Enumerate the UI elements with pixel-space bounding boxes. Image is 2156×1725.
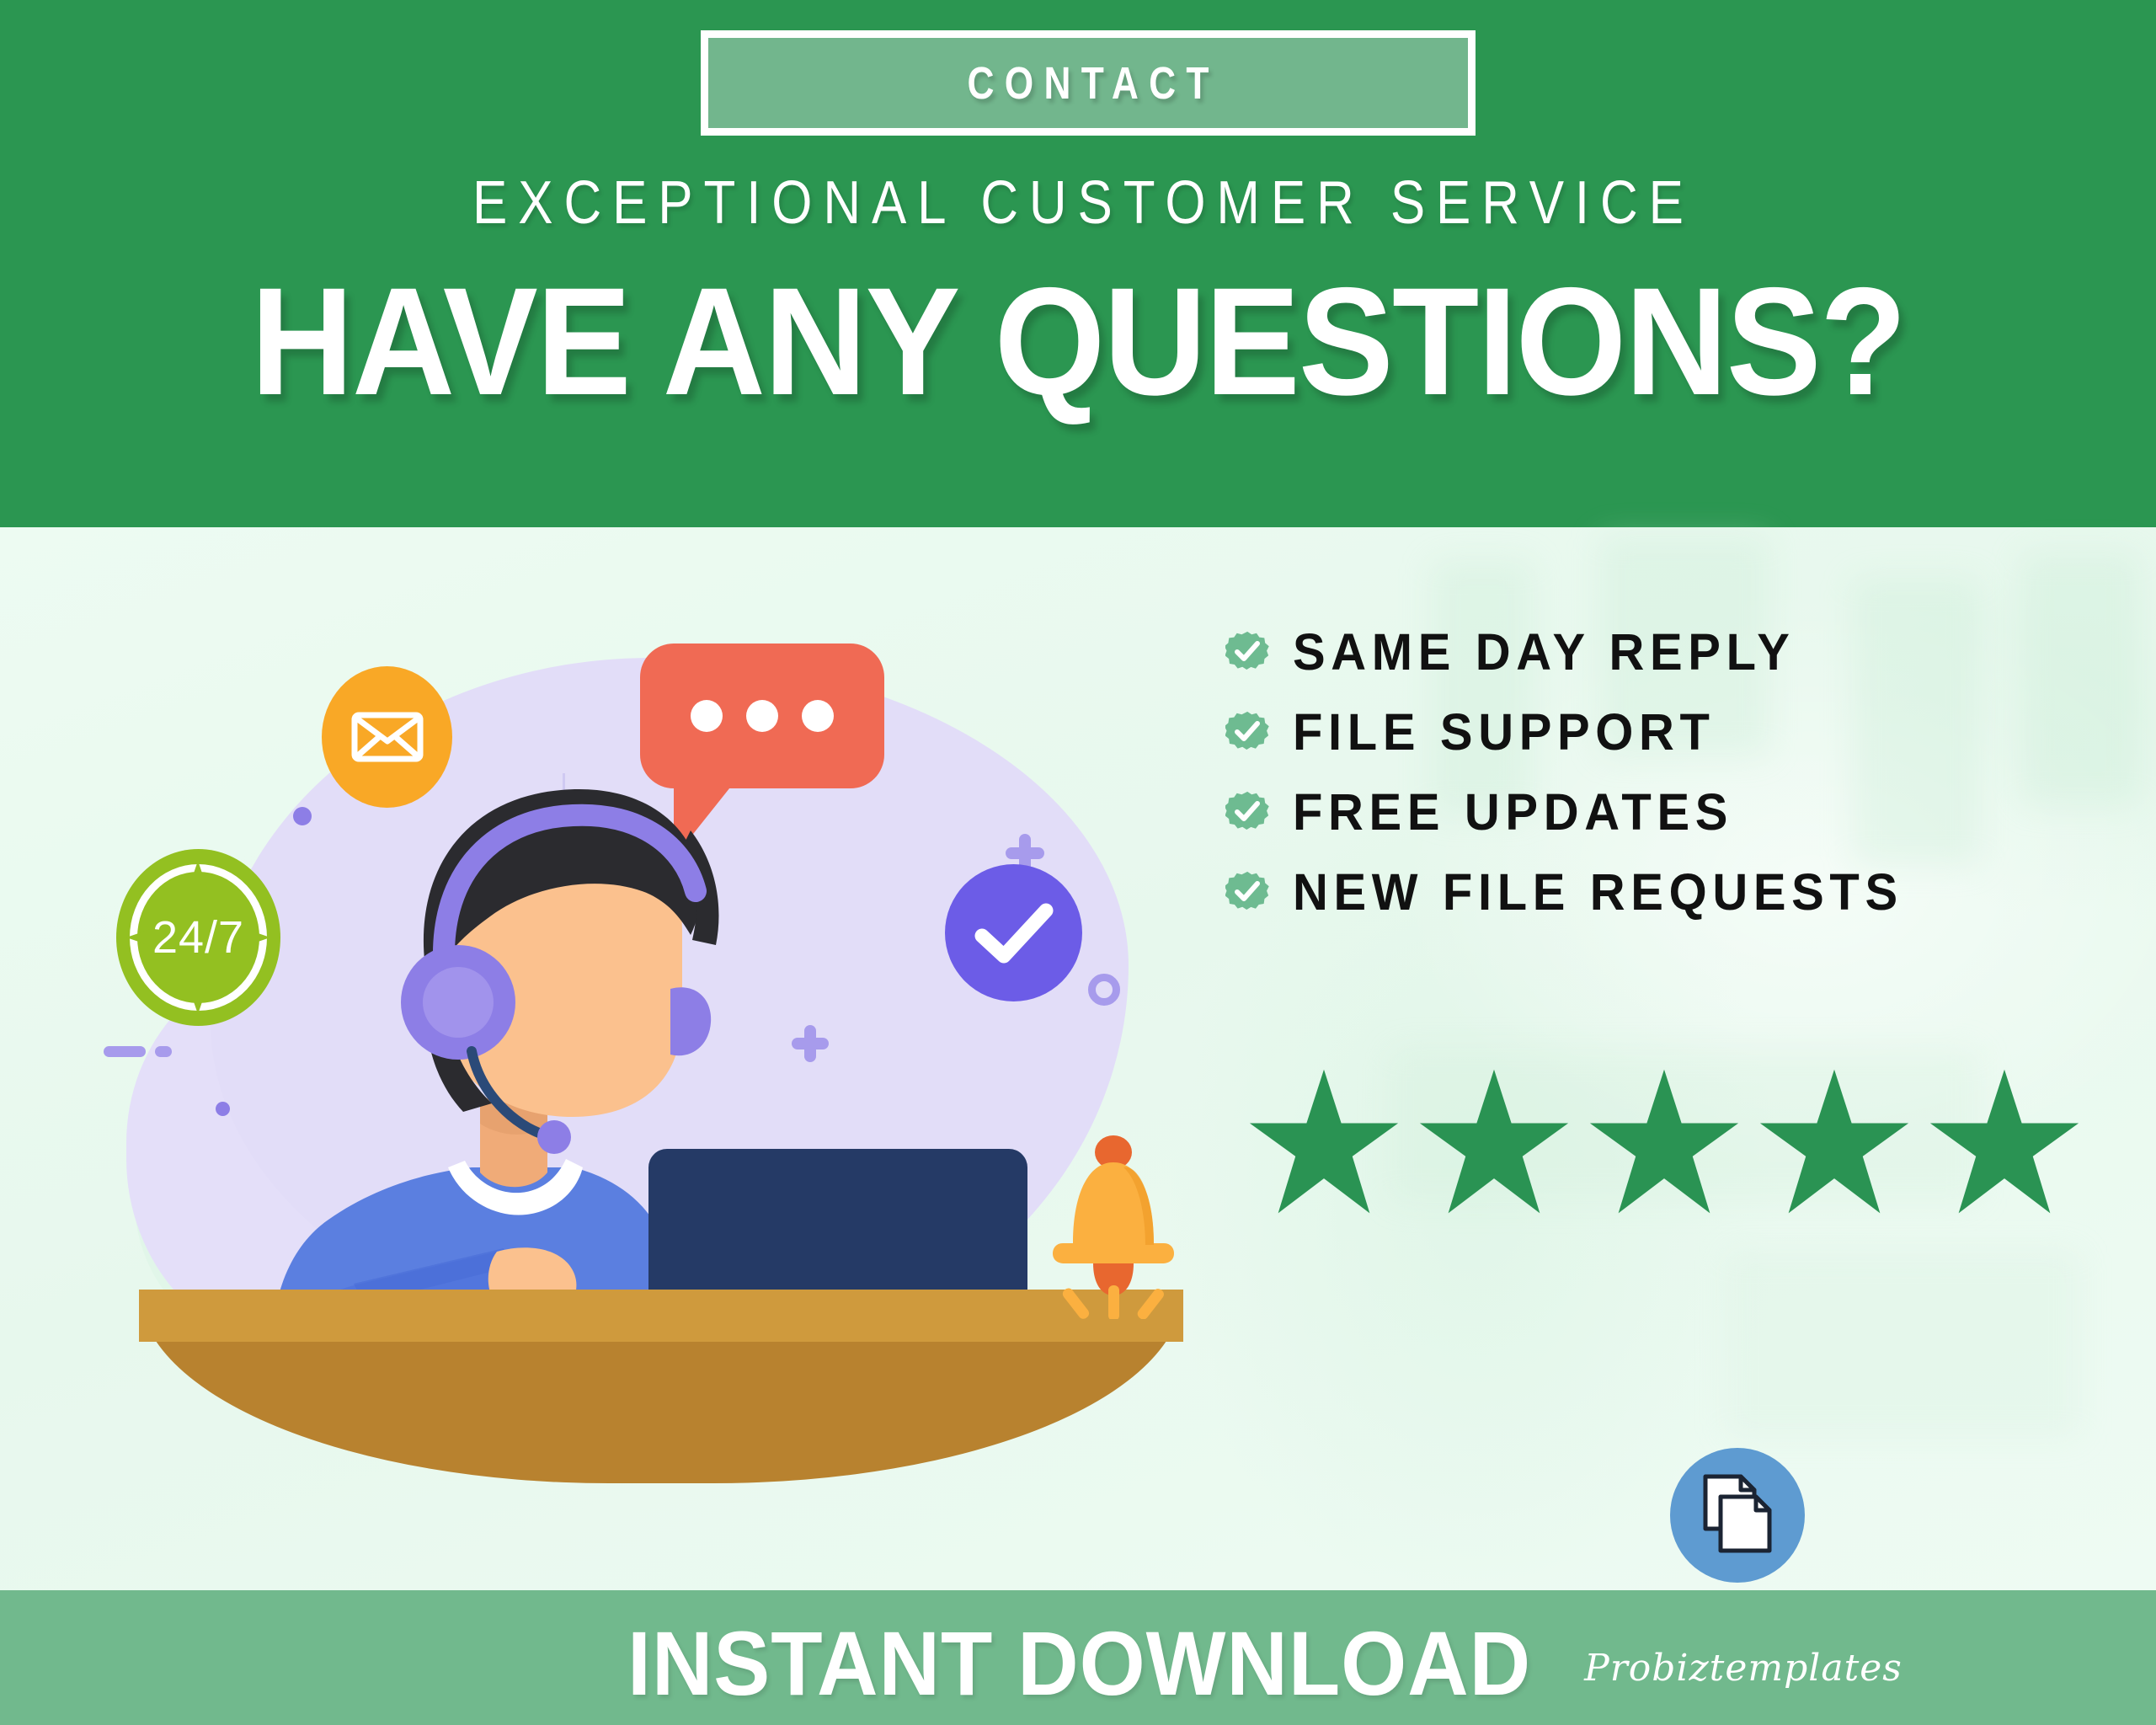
star-rating xyxy=(1245,1066,2084,1218)
feature-label: SAME DAY REPLY xyxy=(1293,622,1796,681)
brand-name: Probiztemplates xyxy=(1584,1647,1903,1690)
headset-earcup-inner xyxy=(423,967,494,1038)
background-texture xyxy=(1726,1252,2080,1437)
notification-bell-icon xyxy=(1046,1134,1181,1319)
headset-mic-tip xyxy=(537,1120,571,1154)
desk-surface xyxy=(139,1290,1183,1342)
feature-label: FREE UPDATES xyxy=(1293,782,1733,841)
notification-bell xyxy=(1046,1134,1181,1319)
clock-badge-label: 24/7 xyxy=(152,911,244,964)
star-icon xyxy=(1415,1066,1573,1218)
feature-item: FREE UPDATES xyxy=(1225,772,2068,852)
feature-item: NEW FILE REQUESTS xyxy=(1225,852,2068,932)
brand-logo xyxy=(1653,1448,1822,1583)
feature-label: FILE SUPPORT xyxy=(1293,702,1716,761)
header-band: CONTACT EXCEPTIONAL CUSTOMER SERVICE HAV… xyxy=(0,0,2156,527)
check-badge-icon xyxy=(1225,630,1269,674)
feature-label: NEW FILE REQUESTS xyxy=(1293,862,1903,921)
feature-item: SAME DAY REPLY xyxy=(1225,611,2068,692)
brand-name-wrap: Probiztemplates xyxy=(1583,1647,1903,1690)
logo-circle xyxy=(1670,1448,1805,1583)
star-icon xyxy=(1755,1066,1913,1218)
star-icon xyxy=(1925,1066,2084,1218)
page-title: HAVE ANY QUESTIONS? xyxy=(76,253,2081,430)
check-badge-icon xyxy=(1225,710,1269,754)
main-content-area: 24/7 xyxy=(0,527,2156,1590)
feature-item: FILE SUPPORT xyxy=(1225,692,2068,772)
support-illustration: 24/7 xyxy=(101,578,1213,1546)
star-icon xyxy=(1245,1066,1403,1218)
check-badge-icon xyxy=(1225,870,1269,914)
contact-promo-poster: CONTACT EXCEPTIONAL CUSTOMER SERVICE HAV… xyxy=(0,0,2156,1725)
star-icon xyxy=(1585,1066,1743,1218)
features-list: SAME DAY REPLY FILE SUPPORT xyxy=(1225,611,2068,932)
contact-badge-label: CONTACT xyxy=(957,57,1219,109)
agent-earpiece-right xyxy=(670,987,711,1055)
documents-icon xyxy=(1697,1471,1778,1559)
contact-badge: CONTACT xyxy=(701,30,1476,136)
header-subtitle: EXCEPTIONAL CUSTOMER SERVICE xyxy=(151,168,2005,238)
check-badge-icon xyxy=(1225,790,1269,834)
instant-download-label: INSTANT DOWNLOAD xyxy=(627,1610,1531,1716)
